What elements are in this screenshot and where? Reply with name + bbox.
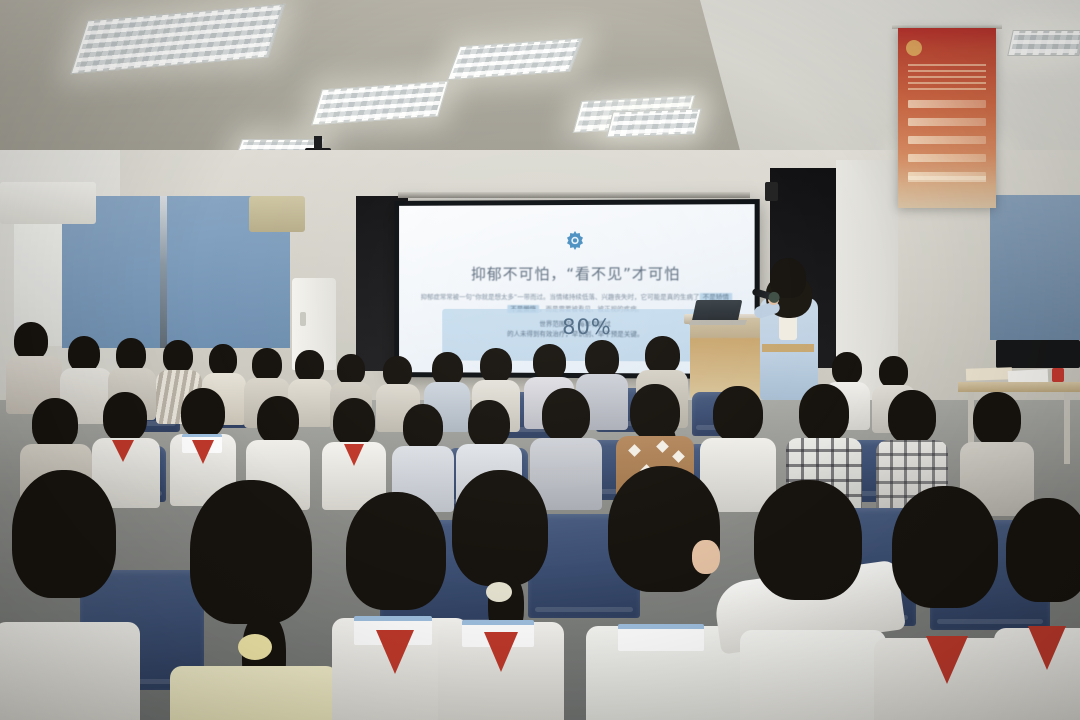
- head: [32, 398, 78, 450]
- head: [181, 388, 225, 438]
- head: [452, 470, 548, 586]
- banner-list-line: [908, 154, 986, 162]
- head: [337, 354, 365, 385]
- banner-headline: [908, 64, 986, 90]
- audience-member: [1000, 498, 1080, 720]
- head: [403, 404, 443, 450]
- head: [103, 392, 147, 442]
- presenter: [752, 258, 828, 400]
- torso: [740, 630, 886, 720]
- head: [432, 352, 463, 386]
- laptop-base: [689, 320, 747, 325]
- torso: [0, 622, 140, 720]
- ceiling-light-panel: [606, 108, 701, 137]
- head: [257, 396, 299, 444]
- side-table-leg: [1064, 392, 1070, 464]
- head: [645, 336, 680, 374]
- hair-tie: [486, 582, 512, 602]
- banner-list-line: [908, 136, 986, 144]
- audience-member: [322, 398, 386, 506]
- head: [799, 384, 849, 442]
- head: [480, 348, 512, 383]
- head: [713, 386, 763, 442]
- head: [116, 338, 146, 372]
- laptop: [692, 300, 743, 322]
- ear: [692, 540, 720, 574]
- head: [533, 344, 566, 380]
- banner-list-line: [908, 118, 986, 126]
- screen-mount-rail: [398, 192, 750, 198]
- side-table: [958, 382, 1080, 392]
- head: [892, 486, 998, 608]
- audience-member: [596, 466, 732, 720]
- banner-list-line: [908, 100, 986, 108]
- av-equipment: [996, 340, 1080, 368]
- banner-emblem-icon: [906, 40, 922, 56]
- curtain-divider: [160, 196, 167, 348]
- slide-body-part-1: 抑郁症常常被一句“你就是想太多”一带而过。当情绪持续低落、兴趣丧失时，它可能是真…: [421, 293, 700, 301]
- torso: [170, 666, 338, 720]
- head: [68, 336, 100, 372]
- head: [333, 398, 375, 446]
- head: [346, 492, 446, 610]
- ceiling-light-panel: [1007, 30, 1080, 56]
- head: [888, 390, 936, 444]
- air-conditioner-wall-center: [249, 196, 305, 232]
- papers: [966, 367, 1012, 381]
- head: [879, 356, 908, 388]
- red-object: [1052, 368, 1064, 382]
- head: [585, 340, 619, 378]
- audience-member: [740, 480, 878, 720]
- audience-member: [440, 470, 560, 720]
- sailor-collar: [618, 624, 704, 651]
- head: [542, 388, 590, 442]
- audience-member: [0, 470, 132, 720]
- audience-member: [880, 486, 1010, 720]
- wall-speaker: [765, 182, 778, 201]
- head: [832, 352, 862, 385]
- wall-banner: [898, 28, 996, 208]
- head: [973, 392, 1021, 446]
- head: [190, 480, 312, 624]
- slide-title: 抑郁不可怕，“看不见”才可怕: [399, 263, 755, 284]
- head: [1006, 498, 1080, 602]
- head: [383, 356, 412, 387]
- head: [252, 348, 282, 381]
- presenter-belt: [762, 344, 814, 352]
- head: [295, 350, 324, 382]
- banner-footer: [908, 176, 986, 182]
- head: [163, 340, 193, 373]
- head: [14, 322, 48, 360]
- audience-member: [178, 480, 328, 720]
- head: [754, 480, 862, 600]
- head: [12, 470, 116, 598]
- gear-icon: [562, 229, 588, 255]
- curtain-right: [990, 195, 1080, 340]
- air-conditioner-wall-left: [0, 182, 96, 224]
- photo-scene: 抑郁不可怕，“看不见”才可怕 抑郁症常常被一句“你就是想太多”一带而过。当情绪持…: [0, 0, 1080, 720]
- hair-tie: [238, 634, 272, 660]
- head: [209, 344, 237, 376]
